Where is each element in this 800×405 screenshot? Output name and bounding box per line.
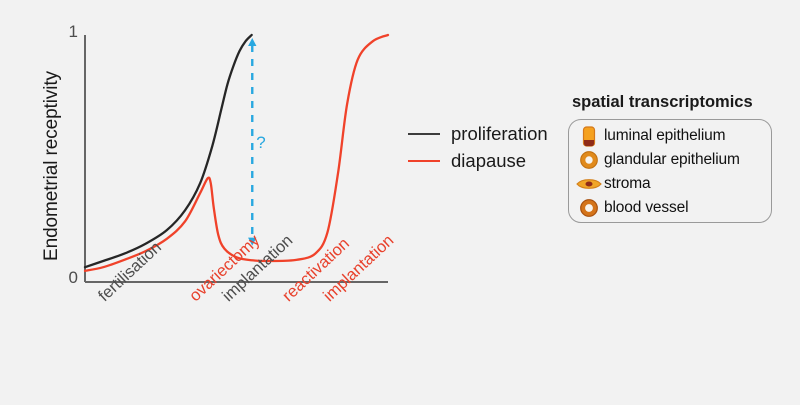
legend-entry-proliferation: proliferation: [408, 120, 548, 147]
legend-item-stroma: stroma: [576, 172, 772, 196]
legend-item-label: glandular epithelium: [604, 151, 740, 169]
series-legend: proliferation diapause: [408, 120, 548, 174]
legend-swatch-proliferation: [408, 133, 440, 135]
blood-vessel-icon: [576, 196, 602, 220]
glandular-epithelium-icon: [576, 148, 602, 172]
legend-item-label: stroma: [604, 175, 650, 193]
luminal-epithelium-icon: [576, 124, 602, 148]
legend-item-luminal-epithelium: luminal epithelium: [576, 124, 772, 148]
legend-label-diapause: diapause: [451, 150, 526, 172]
legend-item-blood-vessel: blood vessel: [576, 196, 772, 220]
uncertainty-arrow: [248, 38, 256, 246]
legend-label-proliferation: proliferation: [451, 123, 548, 145]
stroma-icon: [576, 172, 602, 196]
spatial-transcriptomics-title: spatial transcriptomics: [572, 93, 753, 112]
figure-root: Endometrial receptivity 1 0 ? fertilisat…: [0, 0, 800, 405]
legend-entry-diapause: diapause: [408, 147, 548, 174]
legend-item-glandular-epithelium: glandular epithelium: [576, 148, 772, 172]
uncertainty-question-mark: ?: [256, 133, 265, 152]
legend-item-label: blood vessel: [604, 199, 688, 217]
legend-swatch-diapause: [408, 160, 440, 162]
legend-item-label: luminal epithelium: [604, 127, 725, 145]
spatial-transcriptomics-legend: luminal epithelium glandular epithelium …: [576, 124, 772, 220]
series-line-proliferation: [85, 35, 252, 267]
